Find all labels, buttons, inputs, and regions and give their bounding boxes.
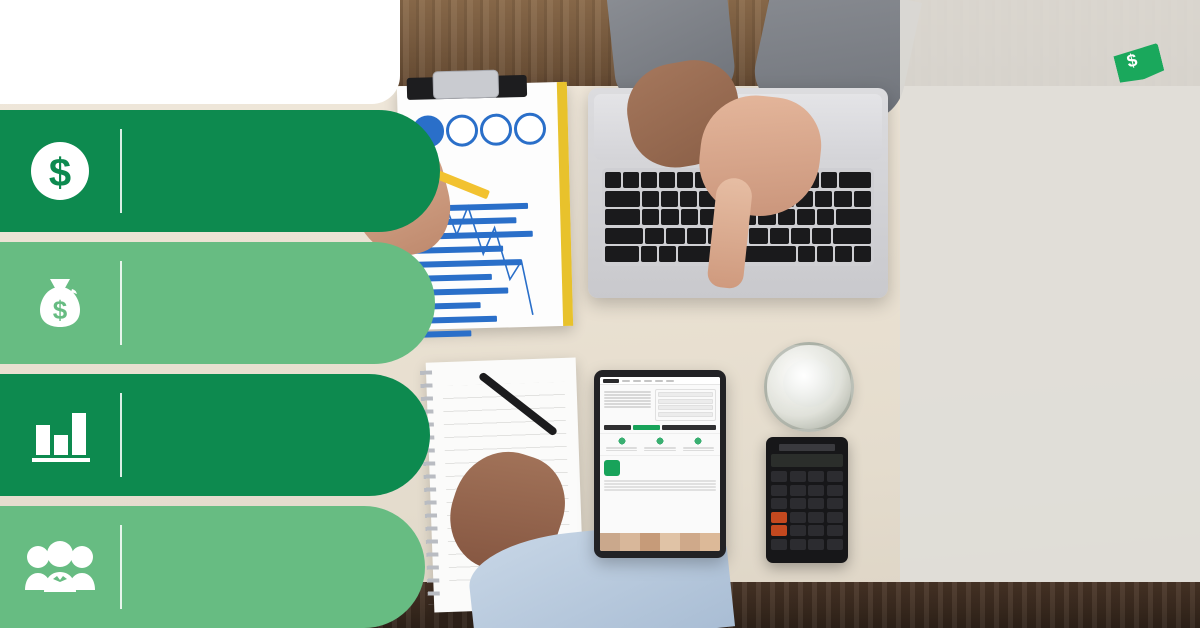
tablet-headline-block — [600, 456, 720, 480]
calculator-key — [827, 471, 843, 482]
tablet-headline-icon — [604, 460, 620, 476]
tablet-nav-item — [666, 380, 674, 382]
tablet-feature-card — [642, 437, 677, 452]
calculator-key — [827, 525, 843, 536]
feature-row-3[interactable] — [0, 374, 430, 496]
tablet-feature-card — [681, 437, 716, 452]
tablet-body-text — [600, 480, 720, 490]
tablet-screen — [600, 377, 720, 551]
divider — [120, 261, 122, 345]
calculator-key — [771, 539, 787, 550]
report-dial-icon — [514, 112, 547, 145]
tablet-feature-cards — [600, 433, 720, 456]
tablet-site-logo — [603, 379, 619, 383]
calculator-key-clear-entry — [771, 525, 787, 536]
tablet-cta-dark — [604, 425, 631, 430]
feature-row-2[interactable]: $ — [0, 242, 435, 364]
title-panel — [0, 0, 400, 104]
calculator-key — [827, 539, 843, 550]
calculator-key — [808, 498, 824, 509]
divider — [120, 393, 122, 477]
tablet-cta-row — [600, 425, 720, 433]
calculator-key — [771, 471, 787, 482]
tablet-cta-green — [633, 425, 660, 430]
tablet-hero — [600, 385, 720, 425]
calculator-keypad — [771, 471, 843, 550]
tablet-site-navbar — [600, 377, 720, 385]
bar-chart-icon — [0, 405, 120, 465]
calculator-key — [790, 485, 806, 496]
tablet-nav-item — [633, 380, 641, 382]
accent-bar — [32, 8, 380, 18]
tablet-feature-card — [604, 437, 639, 452]
calculator-key — [790, 471, 806, 482]
money-bag-icon: $ — [0, 271, 120, 335]
calculator-display — [771, 454, 843, 467]
calculator-key — [790, 539, 806, 550]
tablet-hero-copy — [604, 389, 651, 421]
salario-logo[interactable] — [1178, 14, 1188, 54]
calculator-key — [790, 525, 806, 536]
tablet-cta-wide — [662, 425, 716, 430]
tablet-device — [594, 370, 726, 558]
divider — [120, 129, 122, 213]
calculator-key — [808, 539, 824, 550]
tablet-search-form — [655, 389, 716, 421]
bottom-area-chart — [900, 360, 1200, 570]
top-trend-chart — [900, 60, 1200, 218]
svg-text:$: $ — [49, 151, 71, 195]
divider — [120, 525, 122, 609]
calculator-key — [827, 498, 843, 509]
infographic-banner: $ $ — [0, 0, 1200, 628]
dollar-circle-icon: $ — [0, 140, 120, 202]
feature-row-1[interactable]: $ — [0, 110, 440, 232]
calculator-key-clear — [771, 512, 787, 523]
drinking-glass — [764, 342, 854, 432]
report-dial-icon — [480, 113, 513, 146]
tablet-nav-item — [622, 380, 630, 382]
feature-row-4[interactable] — [0, 506, 425, 628]
tablet-nav-item — [644, 380, 652, 382]
report-dial-icon — [446, 114, 479, 147]
calculator-key — [808, 471, 824, 482]
calculator-key — [827, 512, 843, 523]
people-group-icon — [0, 540, 120, 594]
calculator-solar-panel — [779, 444, 835, 451]
tablet-image-strip — [600, 533, 720, 551]
calculator-key — [827, 485, 843, 496]
calculator-key — [808, 525, 824, 536]
tablet-nav-item — [655, 380, 663, 382]
clipboard-clip — [432, 70, 499, 100]
calculator-key — [808, 512, 824, 523]
middle-dual-series-chart — [900, 226, 1200, 350]
calculator-key — [771, 498, 787, 509]
calculator — [766, 437, 848, 563]
calculator-key — [790, 512, 806, 523]
calculator-key — [808, 485, 824, 496]
calculator-key — [790, 498, 806, 509]
charts-panel — [900, 0, 1200, 582]
calculator-key — [771, 485, 787, 496]
svg-text:$: $ — [53, 295, 68, 325]
